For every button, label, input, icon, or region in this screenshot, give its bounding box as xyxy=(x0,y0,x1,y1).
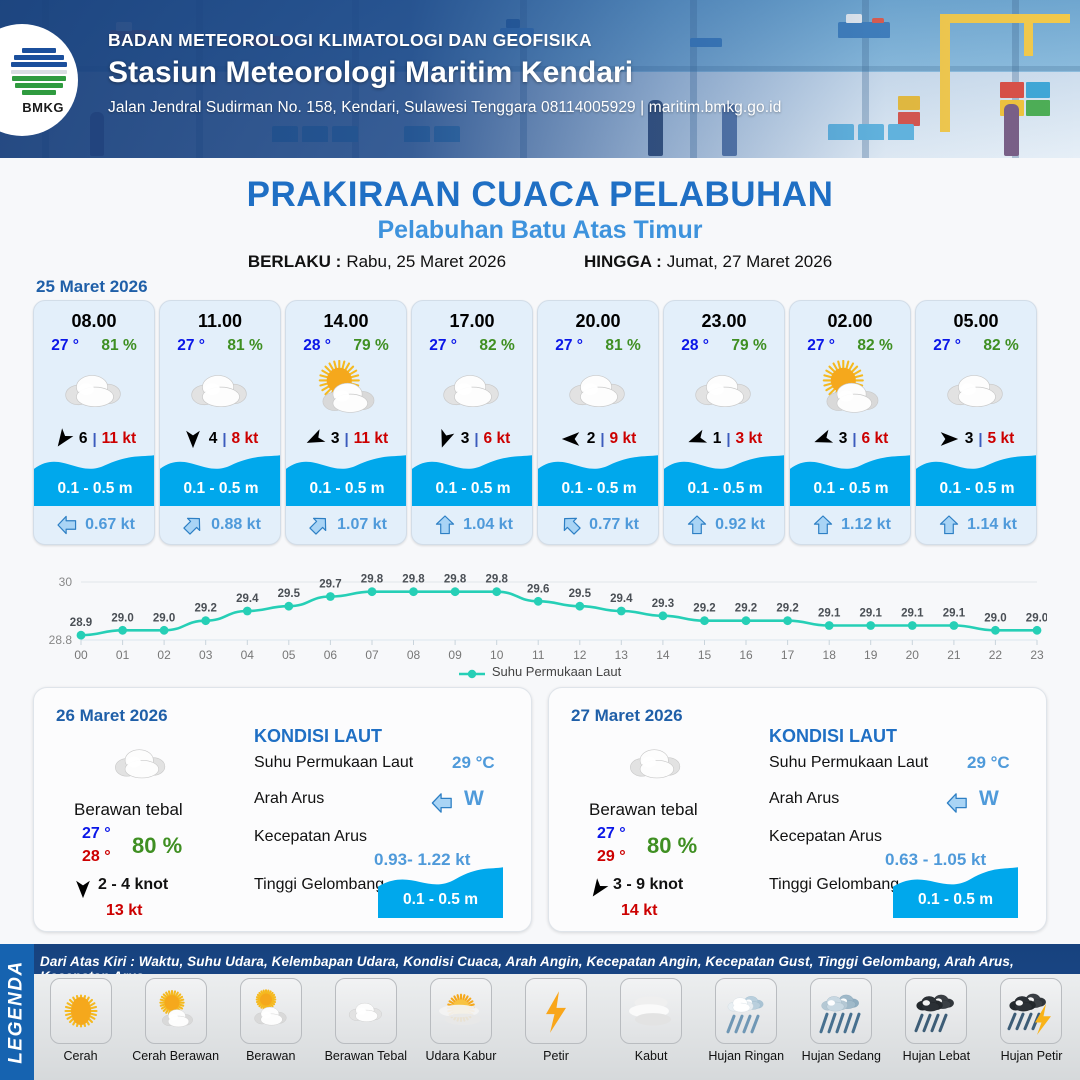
legend-item: Hujan Ringan xyxy=(702,978,791,1078)
card-humidity: 81 % xyxy=(101,337,136,355)
daily-row-current-speed-label: Kecepatan Arus xyxy=(769,828,882,846)
card-gust: 8 kt xyxy=(232,430,259,448)
svg-text:29.2: 29.2 xyxy=(776,603,798,615)
card-wind-speed: 3 xyxy=(839,430,848,448)
card-separator: | xyxy=(600,431,604,448)
card-separator: | xyxy=(852,431,856,448)
card-wind-speed: 3 xyxy=(331,430,340,448)
legend-item-label: Berawan xyxy=(246,1049,295,1063)
svg-text:29.4: 29.4 xyxy=(236,593,259,605)
card-time: 17.00 xyxy=(449,311,494,332)
current-direction-arrow-icon xyxy=(937,514,961,536)
card-humidity: 81 % xyxy=(605,337,640,355)
wind-direction-arrow-icon xyxy=(938,428,960,450)
card-wave-height: 0.1 - 0.5 m xyxy=(538,480,659,498)
daily-summary-panel[interactable]: 27 Maret 2026 Berawan tebal 27 ° 29 ° 80… xyxy=(548,687,1047,932)
card-time: 23.00 xyxy=(701,311,746,332)
card-temp-hum-row: 27 ° 81 % xyxy=(34,337,154,355)
card-current-speed: 1.04 kt xyxy=(463,516,513,534)
card-gust: 11 kt xyxy=(102,430,136,448)
legend-petir-icon xyxy=(525,978,587,1044)
svg-text:08: 08 xyxy=(407,648,421,662)
daily-temp-min: 27 ° xyxy=(82,825,111,843)
svg-text:29.1: 29.1 xyxy=(901,608,924,620)
card-current-row: 0.88 kt xyxy=(160,514,281,536)
svg-text:19: 19 xyxy=(864,648,878,662)
forecast-card[interactable]: 02.00 27 ° 82 % 3 | 6 kt 0.1 - 0.5 m 1 xyxy=(789,300,911,545)
card-temp-hum-row: 27 ° 81 % xyxy=(160,337,280,355)
svg-text:05: 05 xyxy=(282,648,296,662)
card-separator: | xyxy=(92,431,96,448)
card-current-speed: 1.12 kt xyxy=(841,516,891,534)
valid-from-label: BERLAKU : xyxy=(248,252,342,271)
daily-current-direction-arrow-icon xyxy=(943,792,971,814)
current-direction-arrow-icon xyxy=(307,514,331,536)
svg-text:29.8: 29.8 xyxy=(402,574,425,586)
legend-item: Berawan Tebal xyxy=(321,978,410,1078)
legend-hujan-sedang-icon xyxy=(810,978,872,1044)
svg-text:29.5: 29.5 xyxy=(278,588,301,600)
legend-item-label: Hujan Sedang xyxy=(802,1049,881,1063)
legend-item: Kabut xyxy=(607,978,696,1078)
card-current-row: 0.67 kt xyxy=(34,514,155,536)
svg-text:06: 06 xyxy=(324,648,338,662)
card-temperature: 28 ° xyxy=(303,337,331,355)
daily-humidity: 80 % xyxy=(647,833,697,859)
card-current-speed: 0.92 kt xyxy=(715,516,765,534)
card-time: 20.00 xyxy=(575,311,620,332)
legend-hujan-petir-icon xyxy=(1000,978,1062,1044)
legend-item-label: Petir xyxy=(543,1049,569,1063)
card-weather-cerah-berawan-icon xyxy=(790,359,910,421)
daily-humidity: 80 % xyxy=(132,833,182,859)
page-title: PRAKIRAAN CUACA PELABUHAN xyxy=(0,175,1080,215)
card-wind-speed: 6 xyxy=(79,430,88,448)
legend-item-label: Kabut xyxy=(635,1049,668,1063)
card-temperature: 27 ° xyxy=(429,337,457,355)
card-gust: 5 kt xyxy=(988,430,1015,448)
wind-direction-arrow-icon xyxy=(52,428,74,450)
card-wind-speed: 3 xyxy=(965,430,974,448)
daily-row-wave-label: Tinggi Gelombang xyxy=(769,876,899,894)
legend-item: Petir xyxy=(511,978,600,1078)
svg-text:11: 11 xyxy=(532,648,545,662)
card-gust: 6 kt xyxy=(484,430,511,448)
legend-item: Hujan Petir xyxy=(987,978,1076,1078)
card-wave-height: 0.1 - 0.5 m xyxy=(34,480,155,498)
svg-text:22: 22 xyxy=(989,648,1003,662)
svg-text:16: 16 xyxy=(739,648,753,662)
card-time: 05.00 xyxy=(953,311,998,332)
daily-wind-range: 3 - 9 knot xyxy=(613,876,683,894)
svg-text:18: 18 xyxy=(823,648,837,662)
card-separator: | xyxy=(978,431,982,448)
card-wave-height: 0.1 - 0.5 m xyxy=(916,480,1037,498)
card-weather-berawan-tebal-icon xyxy=(916,359,1036,421)
card-gust: 9 kt xyxy=(610,430,637,448)
valid-from: BERLAKU :Rabu, 25 Maret 2026 xyxy=(248,252,506,272)
card-humidity: 81 % xyxy=(227,337,262,355)
svg-text:01: 01 xyxy=(116,648,130,662)
daily-wind-range: 2 - 4 knot xyxy=(98,876,168,894)
svg-text:28.8: 28.8 xyxy=(49,633,73,647)
card-current-row: 0.92 kt xyxy=(664,514,785,536)
svg-text:02: 02 xyxy=(157,648,171,662)
legend-cerah-icon xyxy=(50,978,112,1044)
svg-text:07: 07 xyxy=(365,648,379,662)
daily-row-sst-label: Suhu Permukaan Laut xyxy=(769,754,928,772)
svg-text:13: 13 xyxy=(615,648,629,662)
svg-text:29.1: 29.1 xyxy=(818,608,841,620)
card-current-row: 1.04 kt xyxy=(412,514,533,536)
legend-hujan-lebat-icon xyxy=(905,978,967,1044)
card-temperature: 27 ° xyxy=(51,337,79,355)
legend-icon-list: Cerah Cerah Berawan Berawan Berawan Teba… xyxy=(36,978,1076,1078)
legend-item: Udara Kabur xyxy=(416,978,505,1078)
card-current-speed: 0.77 kt xyxy=(589,516,639,534)
page-subtitle: Pelabuhan Batu Atas Timur xyxy=(0,216,1080,245)
forecast-card[interactable]: 11.00 27 ° 81 % 4 | 8 kt 0.1 - 0.5 m 0 xyxy=(159,300,281,545)
svg-text:29.8: 29.8 xyxy=(486,574,509,586)
svg-text:29.6: 29.6 xyxy=(527,583,549,595)
valid-from-value: Rabu, 25 Maret 2026 xyxy=(346,252,506,271)
card-current-speed: 0.88 kt xyxy=(211,516,261,534)
card-wave-height: 0.1 - 0.5 m xyxy=(412,480,533,498)
legend-item-label: Udara Kabur xyxy=(425,1049,496,1063)
wind-direction-arrow-icon xyxy=(182,428,204,450)
card-time: 08.00 xyxy=(71,311,116,332)
daily-weather-berawan-tebal-icon xyxy=(611,736,701,790)
card-wave-height: 0.1 - 0.5 m xyxy=(790,480,911,498)
daily-gust: 13 kt xyxy=(106,902,142,920)
daily-row-current-dir-label: Arah Arus xyxy=(769,790,839,808)
card-humidity: 79 % xyxy=(353,337,388,355)
card-current-speed: 1.14 kt xyxy=(967,516,1017,534)
legend-hujan-ringan-icon xyxy=(715,978,777,1044)
svg-text:20: 20 xyxy=(906,648,920,662)
daily-current-direction-arrow-icon xyxy=(428,792,456,814)
card-temperature: 27 ° xyxy=(555,337,583,355)
legend-item: Hujan Lebat xyxy=(892,978,981,1078)
card-gust: 6 kt xyxy=(862,430,889,448)
legend-item-label: Hujan Petir xyxy=(1001,1049,1063,1063)
card-humidity: 82 % xyxy=(857,337,892,355)
wind-direction-arrow-icon xyxy=(560,428,582,450)
card-weather-berawan-tebal-icon xyxy=(412,359,532,421)
daily-gust: 14 kt xyxy=(621,902,657,920)
svg-text:29.8: 29.8 xyxy=(444,574,467,586)
sea-surface-temperature-chart: 3028.80001020304050607080910111213141516… xyxy=(33,556,1047,668)
card-humidity: 79 % xyxy=(731,337,766,355)
card-temperature: 28 ° xyxy=(681,337,709,355)
card-gust: 11 kt xyxy=(354,430,388,448)
header-text-block: BADAN METEOROLOGI KLIMATOLOGI DAN GEOFIS… xyxy=(108,30,968,117)
legend-item-label: Hujan Ringan xyxy=(708,1049,784,1063)
svg-text:29.0: 29.0 xyxy=(984,612,1006,624)
card-gust: 3 kt xyxy=(736,430,763,448)
valid-to-label: HINGGA : xyxy=(584,252,662,271)
chart-legend-label: Suhu Permukaan Laut xyxy=(492,664,621,679)
daily-row-sst-label: Suhu Permukaan Laut xyxy=(254,754,413,772)
card-wind-speed: 1 xyxy=(713,430,722,448)
legend-item-label: Cerah Berawan xyxy=(132,1049,219,1063)
header-address: Jalan Jendral Sudirman No. 158, Kendari,… xyxy=(108,99,968,117)
svg-text:29.0: 29.0 xyxy=(153,612,175,624)
svg-text:29.8: 29.8 xyxy=(361,574,384,586)
legend-udara-kabur-icon xyxy=(430,978,492,1044)
daily-wave-height: 0.1 - 0.5 m xyxy=(378,891,503,909)
svg-text:09: 09 xyxy=(448,648,462,662)
wind-direction-arrow-icon xyxy=(812,428,834,450)
card-wave-height: 0.1 - 0.5 m xyxy=(160,480,281,498)
card-temp-hum-row: 28 ° 79 % xyxy=(286,337,406,355)
svg-text:21: 21 xyxy=(947,648,961,662)
svg-text:29.5: 29.5 xyxy=(569,588,592,600)
daily-date: 26 Maret 2026 xyxy=(56,706,168,726)
svg-text:30: 30 xyxy=(59,575,73,589)
card-temperature: 27 ° xyxy=(177,337,205,355)
valid-to: HINGGA :Jumat, 27 Maret 2026 xyxy=(584,252,832,272)
forecast-date-label: 25 Maret 2026 xyxy=(36,277,148,297)
card-time: 11.00 xyxy=(198,311,242,332)
daily-row-sst-value: 29 °C xyxy=(452,753,495,773)
card-wind-speed: 4 xyxy=(209,430,218,448)
forecast-card[interactable]: 05.00 27 ° 82 % 3 | 5 kt 0.1 - 0.5 m 1 xyxy=(915,300,1037,545)
current-direction-arrow-icon xyxy=(433,514,457,536)
legend-item: Cerah xyxy=(36,978,125,1078)
daily-temp-min: 27 ° xyxy=(597,825,626,843)
valid-to-value: Jumat, 27 Maret 2026 xyxy=(667,252,832,271)
card-current-speed: 0.67 kt xyxy=(85,516,135,534)
card-current-row: 0.77 kt xyxy=(538,514,659,536)
daily-row-current-dir-value: W xyxy=(979,787,999,811)
current-direction-arrow-icon xyxy=(181,514,205,536)
daily-row-current-speed-label: Kecepatan Arus xyxy=(254,828,367,846)
svg-text:29.2: 29.2 xyxy=(195,603,217,615)
svg-text:14: 14 xyxy=(656,648,670,662)
daily-sea-conditions-title: KONDISI LAUT xyxy=(254,726,382,747)
svg-text:00: 00 xyxy=(74,648,88,662)
current-direction-arrow-icon xyxy=(559,514,583,536)
svg-text:29.1: 29.1 xyxy=(943,608,966,620)
svg-text:29.3: 29.3 xyxy=(652,598,674,610)
current-direction-arrow-icon xyxy=(685,514,709,536)
card-separator: | xyxy=(222,431,226,448)
wind-direction-arrow-icon xyxy=(434,428,456,450)
card-humidity: 82 % xyxy=(479,337,514,355)
card-current-speed: 1.07 kt xyxy=(337,516,387,534)
daily-row-current-dir-label: Arah Arus xyxy=(254,790,324,808)
card-weather-berawan-tebal-icon xyxy=(34,359,154,421)
svg-text:29.0: 29.0 xyxy=(1026,612,1047,624)
bmkg-logo-text: BMKG xyxy=(22,100,68,115)
card-wave-height: 0.1 - 0.5 m xyxy=(664,480,785,498)
daily-row-sst-value: 29 °C xyxy=(967,753,1010,773)
svg-text:28.9: 28.9 xyxy=(70,617,92,629)
daily-summary-panel[interactable]: 26 Maret 2026 Berawan tebal 27 ° 28 ° 80… xyxy=(33,687,532,932)
daily-wave-height: 0.1 - 0.5 m xyxy=(893,891,1018,909)
svg-text:15: 15 xyxy=(698,648,712,662)
chart-legend: Suhu Permukaan Laut xyxy=(0,664,1080,679)
svg-text:29.7: 29.7 xyxy=(319,579,341,591)
legend-item: Hujan Sedang xyxy=(797,978,886,1078)
daily-row-wave-label: Tinggi Gelombang xyxy=(254,876,384,894)
forecast-card-row: 08.00 27 ° 81 % 6 | 11 kt 0.1 - 0.5 m xyxy=(33,300,1047,545)
legend-item-label: Berawan Tebal xyxy=(325,1049,407,1063)
card-temp-hum-row: 27 ° 82 % xyxy=(916,337,1036,355)
legend-item-label: Cerah xyxy=(64,1049,98,1063)
svg-text:29.0: 29.0 xyxy=(111,612,133,624)
daily-wind-direction-arrow-icon xyxy=(72,878,94,898)
forecast-card[interactable]: 08.00 27 ° 81 % 6 | 11 kt 0.1 - 0.5 m xyxy=(33,300,155,545)
card-current-row: 1.14 kt xyxy=(916,514,1037,536)
header-station-name: Stasiun Meteorologi Maritim Kendari xyxy=(108,56,968,90)
svg-text:23: 23 xyxy=(1030,648,1044,662)
card-separator: | xyxy=(474,431,478,448)
legend-item-label: Hujan Lebat xyxy=(903,1049,970,1063)
wind-direction-arrow-icon xyxy=(686,428,708,450)
daily-sea-conditions-title: KONDISI LAUT xyxy=(769,726,897,747)
page-header: BMKG BADAN METEOROLOGI KLIMATOLOGI DAN G… xyxy=(0,0,1080,158)
legenda-side-label: LEGENDA xyxy=(6,960,28,1063)
legend-bar: Dari Atas Kiri : Waktu, Suhu Udara, Kele… xyxy=(0,944,1080,1080)
legend-berawan-icon xyxy=(240,978,302,1044)
forecast-card[interactable]: 20.00 27 ° 81 % 2 | 9 kt 0.1 - 0.5 m 0 xyxy=(537,300,659,545)
card-temp-hum-row: 27 ° 81 % xyxy=(538,337,658,355)
legend-item: Berawan xyxy=(226,978,315,1078)
wind-direction-arrow-icon xyxy=(304,428,326,450)
daily-summary-row: 26 Maret 2026 Berawan tebal 27 ° 28 ° 80… xyxy=(33,687,1047,932)
daily-date: 27 Maret 2026 xyxy=(571,706,683,726)
daily-condition: Berawan tebal xyxy=(589,800,698,820)
svg-text:04: 04 xyxy=(241,648,255,662)
forecast-card[interactable]: 17.00 27 ° 82 % 3 | 6 kt 0.1 - 0.5 m 1 xyxy=(411,300,533,545)
card-weather-berawan-tebal-icon xyxy=(160,359,280,421)
daily-row-current-dir-value: W xyxy=(464,787,484,811)
card-weather-berawan-tebal-icon xyxy=(664,359,784,421)
svg-text:12: 12 xyxy=(573,648,587,662)
svg-text:03: 03 xyxy=(199,648,213,662)
card-temperature: 27 ° xyxy=(807,337,835,355)
bmkg-logo-mark xyxy=(10,46,68,98)
current-direction-arrow-icon xyxy=(811,514,835,536)
card-current-row: 1.12 kt xyxy=(790,514,911,536)
legend-item: Cerah Berawan xyxy=(131,978,220,1078)
legend-kabut-icon xyxy=(620,978,682,1044)
card-weather-berawan-tebal-icon xyxy=(538,359,658,421)
legend-cerah-berawan-icon xyxy=(145,978,207,1044)
svg-text:29.1: 29.1 xyxy=(860,608,883,620)
card-temp-hum-row: 27 ° 82 % xyxy=(412,337,532,355)
card-weather-cerah-berawan-icon xyxy=(286,359,406,421)
card-current-row: 1.07 kt xyxy=(286,514,407,536)
legenda-side-tab: LEGENDA xyxy=(0,944,34,1080)
forecast-card[interactable]: 14.00 28 ° 79 % 3 | 11 kt 0.1 - 0.5 m xyxy=(285,300,407,545)
validity-row: BERLAKU :Rabu, 25 Maret 2026 HINGGA :Jum… xyxy=(0,252,1080,272)
svg-text:29.2: 29.2 xyxy=(693,603,715,615)
card-time: 02.00 xyxy=(827,311,872,332)
card-humidity: 82 % xyxy=(983,337,1018,355)
card-separator: | xyxy=(344,431,348,448)
daily-temp-max: 29 ° xyxy=(597,848,626,866)
svg-text:29.4: 29.4 xyxy=(610,593,633,605)
card-wind-speed: 3 xyxy=(461,430,470,448)
legend-berawan-tebal-icon xyxy=(335,978,397,1044)
card-temperature: 27 ° xyxy=(933,337,961,355)
card-separator: | xyxy=(726,431,730,448)
svg-text:17: 17 xyxy=(781,648,795,662)
svg-text:29.2: 29.2 xyxy=(735,603,757,615)
daily-wind-direction-arrow-icon xyxy=(587,878,609,898)
daily-temp-max: 28 ° xyxy=(82,848,111,866)
card-wave-height: 0.1 - 0.5 m xyxy=(286,480,407,498)
svg-text:10: 10 xyxy=(490,648,504,662)
card-wind-speed: 2 xyxy=(587,430,596,448)
chart-legend-marker xyxy=(459,667,485,677)
header-org-name: BADAN METEOROLOGI KLIMATOLOGI DAN GEOFIS… xyxy=(108,30,968,51)
card-time: 14.00 xyxy=(323,311,368,332)
current-direction-arrow-icon xyxy=(55,514,79,536)
card-temp-hum-row: 28 ° 79 % xyxy=(664,337,784,355)
daily-condition: Berawan tebal xyxy=(74,800,183,820)
forecast-card[interactable]: 23.00 28 ° 79 % 1 | 3 kt 0.1 - 0.5 m 0 xyxy=(663,300,785,545)
daily-weather-berawan-tebal-icon xyxy=(96,736,186,790)
card-temp-hum-row: 27 ° 82 % xyxy=(790,337,910,355)
